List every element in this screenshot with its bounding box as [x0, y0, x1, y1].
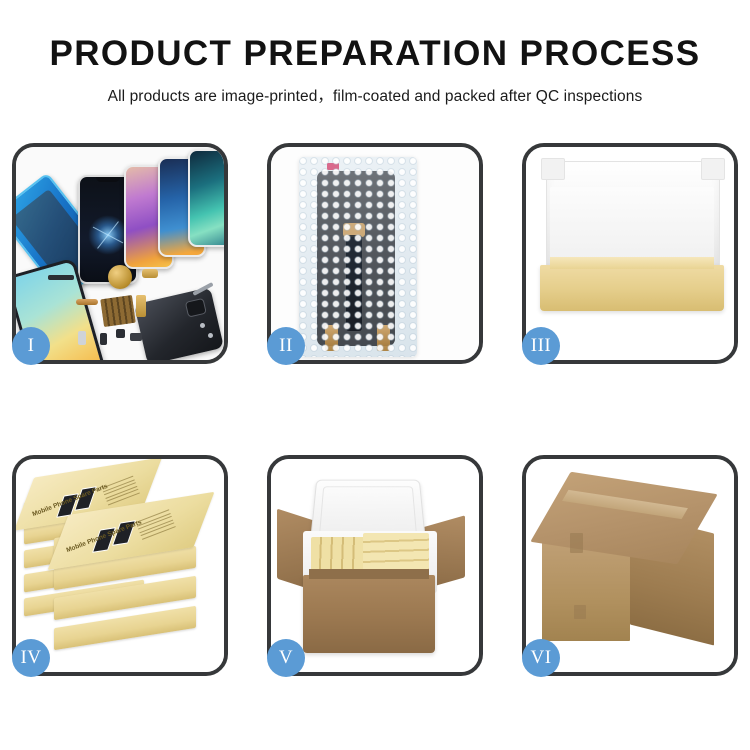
chip-board-component: [100, 295, 136, 327]
step-panel-4: Mobile Phone Spare Parts Mobile Phone Sp…: [12, 455, 228, 676]
kraft-tray-base: [540, 265, 724, 311]
step-badge-6: VI: [522, 639, 560, 677]
step-panel-2: II: [267, 143, 483, 364]
step-badge-5: V: [267, 639, 305, 677]
step-image-4: Mobile Phone Spare Parts Mobile Phone Sp…: [16, 459, 224, 672]
camera-flex-part: [136, 295, 146, 317]
antenna-flex-part: [76, 299, 98, 305]
step-image-5: [271, 459, 479, 672]
step-image-6: [526, 459, 734, 672]
retail-box-stack: Mobile Phone Spare Parts Mobile Phone Sp…: [22, 475, 220, 665]
step-panel-6: VI: [522, 455, 738, 676]
step-image-3: [526, 147, 734, 360]
vibrator-part: [116, 329, 125, 338]
flex-cable-part: [142, 269, 158, 278]
page-title: PRODUCT PREPARATION PROCESS: [0, 0, 750, 73]
earpiece-part: [48, 275, 74, 280]
header: PRODUCT PREPARATION PROCESS All products…: [0, 0, 750, 106]
speaker-component: [108, 265, 132, 289]
step-image-2: [271, 147, 479, 360]
phone-back-cover: [134, 287, 224, 360]
tape-tab: [570, 533, 583, 553]
step-panel-3: III: [522, 143, 738, 364]
screw-part: [200, 323, 205, 328]
bubble-texture: [299, 157, 417, 357]
step-badge-3: III: [522, 327, 560, 365]
button-part: [100, 333, 107, 345]
step-badge-1: I: [12, 327, 50, 365]
phone-notch: [96, 177, 120, 182]
page-subtitle: All products are image-printed，film-coat…: [0, 73, 750, 106]
tape-tab: [574, 605, 586, 619]
screw-part: [208, 333, 213, 338]
shipping-carton-open: [303, 575, 435, 653]
wallpaper-graphic: [88, 215, 128, 255]
process-steps-grid: I II: [12, 143, 738, 683]
step-badge-2: II: [267, 327, 305, 365]
product-preparation-infographic: PRODUCT PREPARATION PROCESS All products…: [0, 0, 750, 750]
step-panel-5: V: [267, 455, 483, 676]
bubble-wrap-bag: [299, 157, 417, 357]
step-image-1: [16, 147, 224, 360]
step-panel-1: I: [12, 143, 228, 364]
connector-part: [130, 333, 142, 341]
step-badge-4: IV: [12, 639, 50, 677]
sim-tray-part: [78, 331, 86, 345]
teal-gradient-phone: [188, 149, 224, 247]
